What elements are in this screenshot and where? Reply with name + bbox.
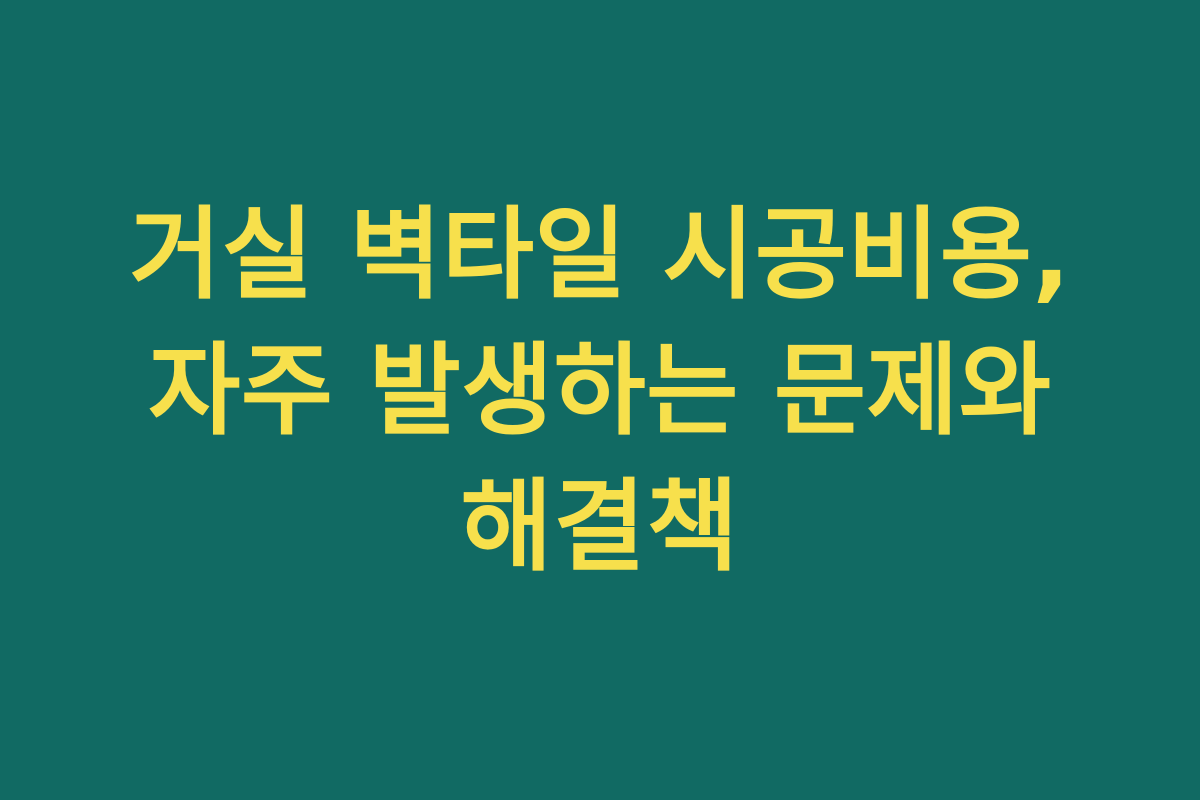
title-line-1: 거실 벽타일 시공비용, [100,187,1100,323]
title-line-3: 해결책 [100,459,1100,595]
title-line-2: 자주 발생하는 문제와 [100,323,1100,459]
title-text-block: 거실 벽타일 시공비용, 자주 발생하는 문제와 해결책 [100,187,1100,595]
title-card: 거실 벽타일 시공비용, 자주 발생하는 문제와 해결책 [0,0,1200,800]
